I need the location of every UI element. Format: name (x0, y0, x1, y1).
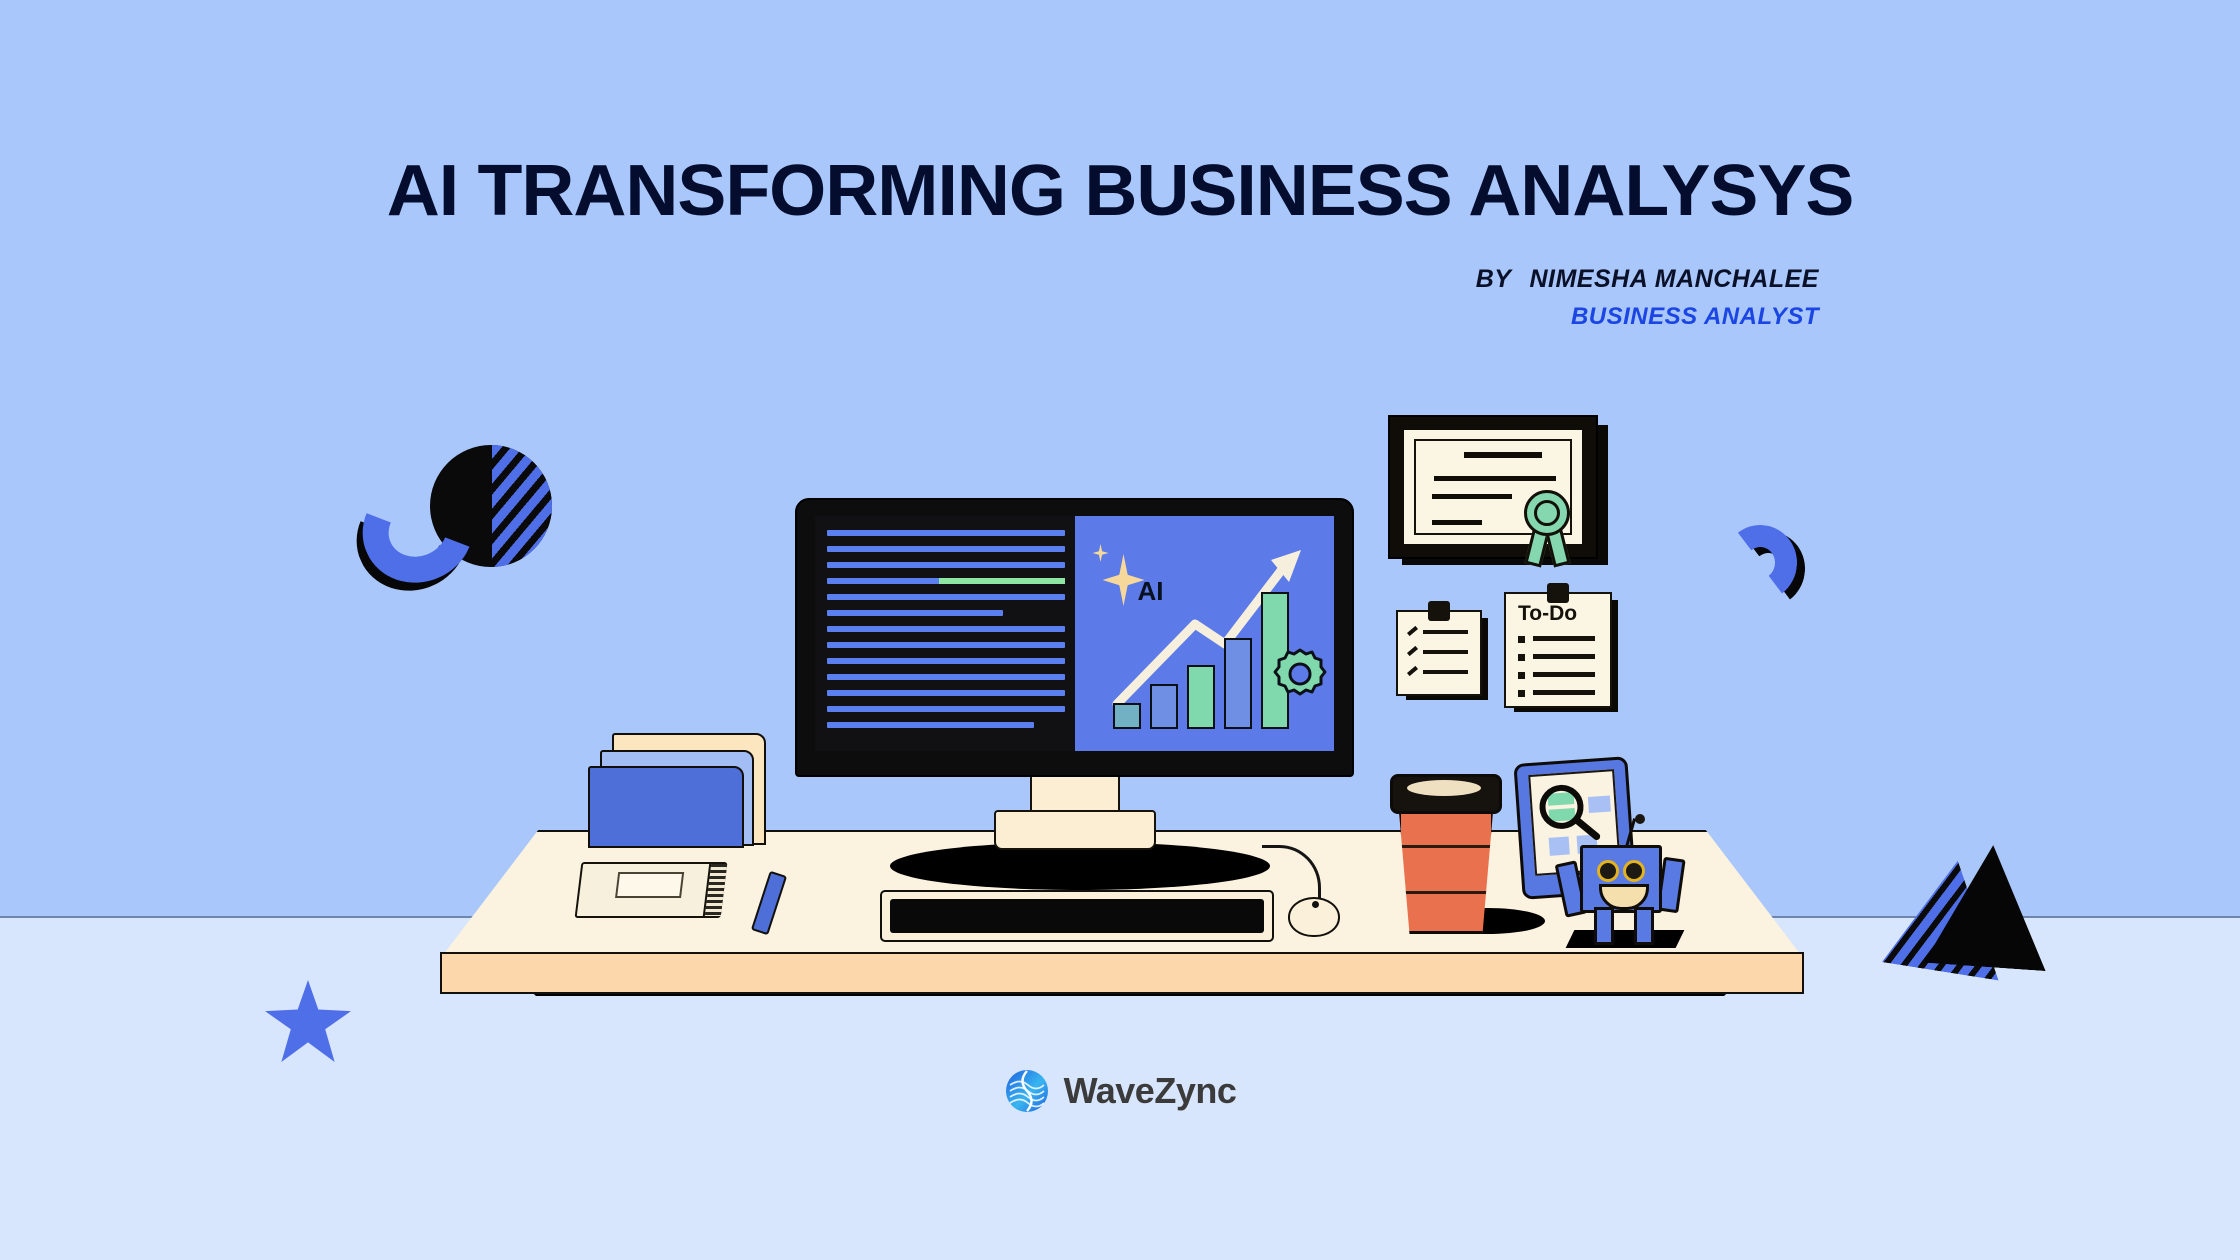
to-do-note: To-Do (1504, 592, 1612, 708)
wall-background (0, 0, 2240, 916)
robot-eye-right (1623, 860, 1645, 882)
code-line (827, 690, 1065, 696)
code-line (827, 626, 1065, 632)
note-bullet (1518, 654, 1525, 661)
keyboard-keys (890, 899, 1264, 933)
folder-front[interactable] (588, 766, 744, 848)
code-line (827, 530, 1065, 536)
certificate-paper (1404, 430, 1582, 544)
by-label: BY (1476, 265, 1512, 293)
monitor-stand-base (994, 810, 1156, 850)
chart-bar (1150, 684, 1178, 729)
monitor[interactable]: AI (795, 498, 1354, 777)
note-bullet (1518, 672, 1525, 679)
note-line (1423, 630, 1468, 634)
chart-bar (1187, 665, 1215, 729)
certificate-line (1434, 476, 1556, 481)
code-line (827, 578, 1065, 584)
note-clip-icon (1547, 583, 1569, 603)
desk-front-edge (440, 952, 1804, 994)
notebook-label (615, 872, 684, 898)
monitor-screen: AI (815, 516, 1334, 751)
code-panel (815, 516, 1075, 751)
to-do-title: To-Do (1518, 602, 1577, 626)
keyboard[interactable] (880, 890, 1274, 942)
author-byline: BYNIMESHA MANCHALEE (1476, 265, 1819, 294)
certificate-line (1432, 494, 1512, 499)
cup-band (1401, 845, 1491, 848)
pencil-icon (1407, 646, 1418, 656)
robot-leg-left (1594, 907, 1614, 945)
certificate-line (1432, 520, 1482, 525)
code-line (827, 610, 1003, 616)
note-line (1533, 690, 1595, 695)
code-line (827, 706, 1065, 712)
code-line (827, 594, 1065, 600)
robot-leg-right (1634, 907, 1654, 945)
code-line (827, 658, 1065, 664)
note-line (1423, 650, 1468, 654)
code-line-highlight (939, 578, 1065, 584)
note-clip-icon (1428, 601, 1450, 621)
pencil-icon (1407, 626, 1418, 636)
chart-bar (1224, 638, 1252, 729)
robot-shadow (1566, 930, 1685, 948)
mouse-button (1312, 901, 1319, 908)
chart-bar (1113, 703, 1141, 729)
author-role: BUSINESS ANALYST (1571, 303, 1819, 331)
robot-eye-left (1597, 860, 1619, 882)
note-line (1533, 636, 1595, 641)
code-line (827, 642, 1065, 648)
circle-stripes (492, 445, 552, 567)
spiral-notebook[interactable] (575, 862, 728, 918)
certificate-frame (1388, 415, 1598, 559)
checklist-note (1396, 610, 1482, 696)
seal-inner-ring (1534, 500, 1560, 526)
robot-antenna-tip-icon (1635, 814, 1645, 824)
slide-root: AI TRANSFORMING BUSINESS ANALYSYS BYNIME… (0, 0, 2240, 1260)
mouse[interactable] (1288, 897, 1340, 937)
cup-lid-opening (1407, 780, 1481, 796)
coffee-cup-lid (1390, 774, 1502, 814)
robot-assistant[interactable] (1580, 845, 1662, 913)
brand-logo: WaveZync (0, 1068, 2240, 1114)
certificate-seal-icon (1524, 490, 1570, 536)
pencil-icon (1407, 666, 1418, 676)
code-line (827, 562, 1065, 568)
code-line (827, 674, 1065, 680)
brand-name: WaveZync (1064, 1070, 1237, 1112)
note-line (1533, 654, 1595, 659)
author-name: NIMESHA MANCHALEE (1529, 265, 1819, 293)
bar-chart (1113, 592, 1289, 729)
certificate-line (1464, 452, 1542, 458)
coffee-cup[interactable] (1398, 800, 1494, 934)
note-bullet (1518, 690, 1525, 697)
cup-band (1401, 891, 1491, 894)
ai-analytics-panel: AI (1075, 516, 1335, 751)
note-line (1533, 672, 1595, 677)
gear-icon (1272, 646, 1328, 707)
code-line (827, 722, 1034, 728)
note-line (1423, 670, 1468, 674)
code-line (827, 546, 1065, 552)
page-title: AI TRANSFORMING BUSINESS ANALYSYS (0, 150, 2240, 232)
note-bullet (1518, 636, 1525, 643)
wave-circle-icon (1004, 1068, 1050, 1114)
